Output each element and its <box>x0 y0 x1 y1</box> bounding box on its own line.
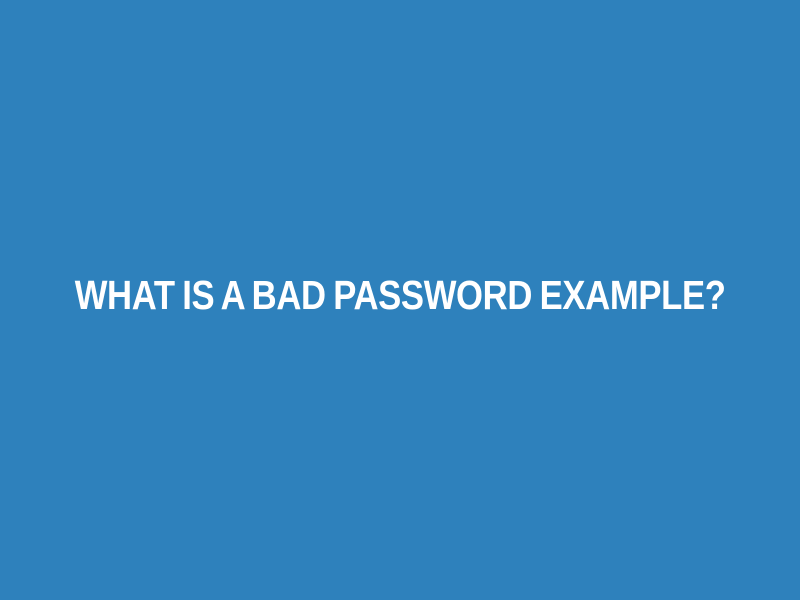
page-title: WHAT IS A BAD PASSWORD EXAMPLE? <box>75 275 726 316</box>
headline-container: WHAT IS A BAD PASSWORD EXAMPLE? <box>0 279 800 311</box>
featured-image-card: WHAT IS A BAD PASSWORD EXAMPLE? <box>0 0 800 600</box>
